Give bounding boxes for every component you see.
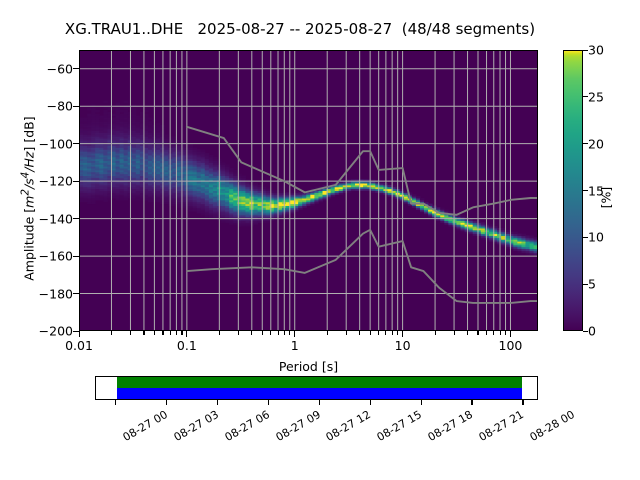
timeline-tick-label: 08-27 06 — [222, 408, 271, 444]
ppsd-heatmap — [80, 51, 537, 330]
x-axis-label: Period [s] — [79, 359, 538, 374]
x-tick-mark-minor — [505, 331, 506, 335]
x-tick-mark-minor — [262, 331, 263, 335]
x-tick-mark-minor — [486, 331, 487, 335]
colorbar-tick-mark — [583, 331, 588, 332]
y-tick-label: −120 — [13, 174, 73, 189]
ppsd-figure: XG.TRAU1..DHE 2025-08-27 -- 2025-08-27 (… — [0, 0, 640, 480]
colorbar-tick-mark — [583, 237, 588, 238]
x-tick-mark-minor — [170, 331, 171, 335]
timeline-tick-label: 08-27 00 — [120, 408, 169, 444]
x-tick-mark-major — [294, 331, 295, 337]
y-tick-mark — [73, 218, 79, 219]
colorbar-tick-label: 30 — [588, 43, 604, 58]
y-tick-mark — [73, 181, 79, 182]
y-tick-mark — [73, 256, 79, 257]
timeline-tick-mark — [166, 400, 167, 405]
timeline-tick-mark — [268, 400, 269, 405]
x-tick-mark-minor — [181, 331, 182, 335]
y-tick-mark — [73, 293, 79, 294]
x-tick-mark-minor — [435, 331, 436, 335]
x-tick-mark-minor — [392, 331, 393, 335]
x-tick-mark-minor — [154, 331, 155, 335]
timeline-tick-label: 08-27 21 — [477, 408, 526, 444]
y-tick-mark — [73, 106, 79, 107]
x-tick-mark-minor — [477, 331, 478, 335]
timeline-tick-mark — [319, 400, 320, 405]
y-tick-label: −200 — [13, 324, 73, 339]
x-tick-mark-minor — [346, 331, 347, 335]
colorbar-tick-label: 25 — [588, 89, 604, 104]
y-tick-label: −80 — [13, 99, 73, 114]
colorbar — [563, 50, 583, 331]
x-tick-mark-minor — [289, 331, 290, 335]
x-tick-mark-minor — [219, 331, 220, 335]
x-tick-mark-minor — [454, 331, 455, 335]
x-tick-mark-minor — [378, 331, 379, 335]
x-tick-mark-minor — [327, 331, 328, 335]
colorbar-tick-mark — [583, 190, 588, 191]
y-tick-label: −100 — [13, 136, 73, 151]
colorbar-tick-label: 5 — [588, 277, 596, 292]
x-tick-label: 100 — [499, 338, 523, 353]
timeline-tick-mark — [522, 400, 523, 405]
x-tick-mark-major — [402, 331, 403, 337]
colorbar-tick-label: 10 — [588, 230, 604, 245]
y-axis-label: Amplitude [m2/s4/Hz] [dB] — [19, 49, 36, 349]
y-tick-mark — [73, 68, 79, 69]
timeline-tick-label: 08-28 00 — [528, 408, 577, 444]
x-tick-mark-minor — [143, 331, 144, 335]
x-tick-label: 0.01 — [65, 338, 93, 353]
x-tick-label: 10 — [395, 338, 411, 353]
timeline-tick-mark — [217, 400, 218, 405]
y-tick-mark — [73, 143, 79, 144]
x-tick-mark-minor — [270, 331, 271, 335]
x-tick-mark-minor — [176, 331, 177, 335]
colorbar-tick-label: 20 — [588, 136, 604, 151]
colorbar-tick-mark — [583, 284, 588, 285]
timeline-data-bar-green — [117, 377, 522, 388]
colorbar-tick-mark — [583, 96, 588, 97]
timeline-tick-mark — [370, 400, 371, 405]
x-tick-mark-major — [79, 331, 80, 337]
x-tick-mark-minor — [130, 331, 131, 335]
ppsd-axes — [79, 50, 538, 331]
x-tick-mark-minor — [397, 331, 398, 335]
x-tick-mark-major — [186, 331, 187, 337]
x-tick-label: 1 — [291, 338, 299, 353]
x-tick-mark-minor — [284, 331, 285, 335]
x-tick-mark-minor — [500, 331, 501, 335]
colorbar-tick-label: 15 — [588, 183, 604, 198]
colorbar-tick-mark — [583, 143, 588, 144]
x-tick-label: 0.1 — [177, 338, 197, 353]
timeline-tick-mark — [115, 400, 116, 405]
timeline-tick-label: 08-27 03 — [171, 408, 220, 444]
x-tick-mark-minor — [251, 331, 252, 335]
x-tick-mark-minor — [278, 331, 279, 335]
coverage-timeline[interactable] — [95, 376, 538, 400]
timeline-tick-mark — [421, 400, 422, 405]
figure-title: XG.TRAU1..DHE 2025-08-27 -- 2025-08-27 (… — [0, 20, 600, 38]
timeline-data-bar-blue — [117, 388, 522, 399]
timeline-tick-label: 08-27 12 — [324, 408, 373, 444]
x-tick-mark-minor — [467, 331, 468, 335]
x-tick-mark-major — [510, 331, 511, 337]
timeline-tick-mark — [471, 400, 472, 405]
timeline-tick-label: 08-27 09 — [273, 408, 322, 444]
x-tick-mark-minor — [162, 331, 163, 335]
x-tick-mark-minor — [359, 331, 360, 335]
timeline-tick-label: 08-27 18 — [426, 408, 475, 444]
x-tick-mark-minor — [238, 331, 239, 335]
colorbar-tick-label: 0 — [588, 324, 596, 339]
y-tick-label: −60 — [13, 61, 73, 76]
y-tick-label: −160 — [13, 249, 73, 264]
colorbar-tick-mark — [583, 50, 588, 51]
y-tick-label: −140 — [13, 211, 73, 226]
y-tick-label: −180 — [13, 286, 73, 301]
x-tick-mark-minor — [111, 331, 112, 335]
x-tick-mark-minor — [385, 331, 386, 335]
x-tick-mark-minor — [493, 331, 494, 335]
timeline-tick-label: 08-27 15 — [375, 408, 424, 444]
x-tick-mark-minor — [370, 331, 371, 335]
